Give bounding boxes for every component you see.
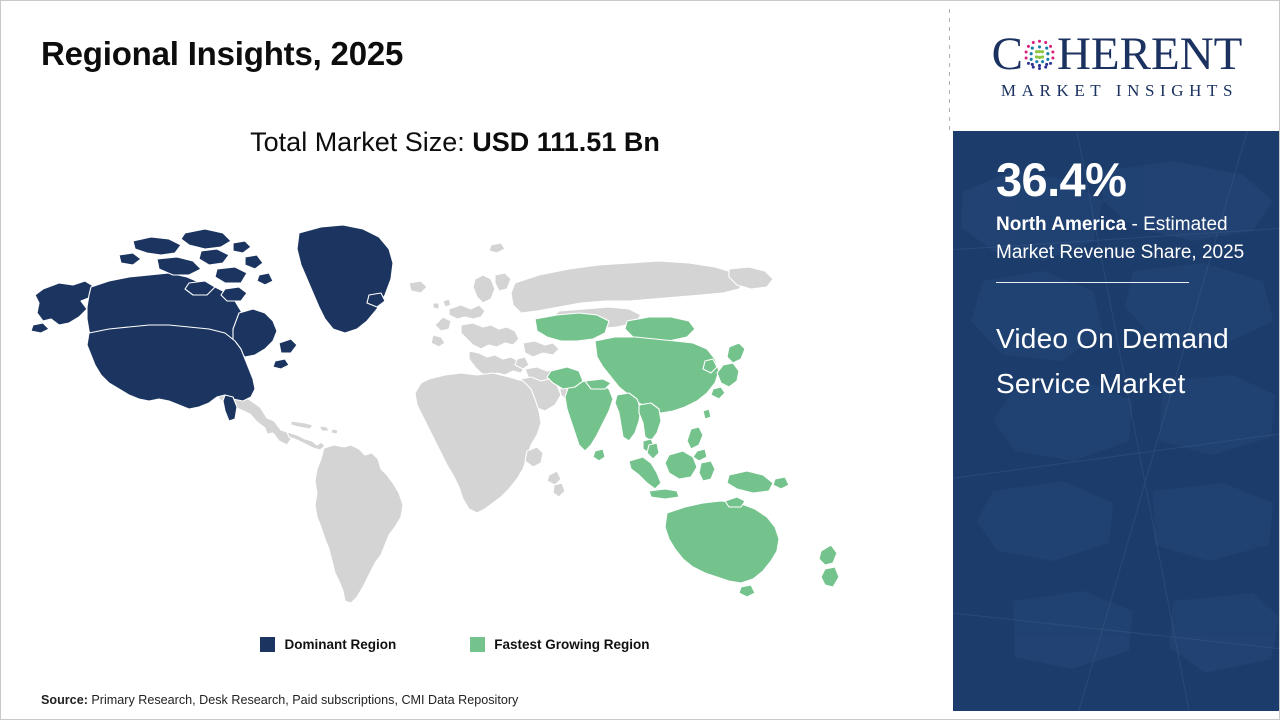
- map-legend: Dominant Region Fastest Growing Region: [1, 637, 909, 652]
- legend-item-fastest-growing: Fastest Growing Region: [470, 637, 649, 652]
- total-market-size: Total Market Size: USD 111.51 Bn: [1, 127, 909, 158]
- logo-wordmark-rest: HERENT: [1057, 31, 1242, 78]
- stat-value: 36.4%: [996, 155, 1268, 204]
- stat-panel-content: 36.4% North America - Estimated Market R…: [996, 155, 1268, 407]
- total-market-size-value: USD 111.51 Bn: [472, 127, 660, 157]
- globe-icon: [1023, 38, 1056, 71]
- legend-label-dominant: Dominant Region: [284, 637, 396, 652]
- legend-label-fastest-growing: Fastest Growing Region: [494, 637, 649, 652]
- map-region-north-america: [31, 225, 393, 421]
- brand-logo: C: [953, 1, 1280, 131]
- logo-subtitle: MARKET INSIGHTS: [996, 81, 1238, 101]
- map-region-asia-pacific: [535, 313, 839, 597]
- world-map-svg: [29, 183, 909, 623]
- market-name: Video On Demand Service Market: [996, 316, 1268, 407]
- left-content-panel: Regional Insights, 2025 Total Market Siz…: [1, 1, 949, 720]
- logo-letter-c: C: [992, 31, 1023, 78]
- source-text: Primary Research, Desk Research, Paid su…: [88, 693, 518, 707]
- map-region-svalbard: [489, 243, 505, 253]
- map-region-rest-of-world: [217, 391, 403, 603]
- infographic-page: Regional Insights, 2025 Total Market Siz…: [0, 0, 1280, 720]
- legend-swatch-dominant: [260, 637, 275, 652]
- world-map: [29, 183, 909, 623]
- legend-swatch-fastest-growing: [470, 637, 485, 652]
- stat-region-name: North America: [996, 214, 1126, 235]
- source-note: Source: Primary Research, Desk Research,…: [41, 693, 518, 707]
- stat-caption: North America - Estimated Market Revenue…: [996, 211, 1261, 266]
- legend-item-dominant: Dominant Region: [260, 637, 396, 652]
- panel-divider-rule: [996, 282, 1189, 283]
- vertical-dashed-divider: [949, 9, 950, 131]
- source-label: Source:: [41, 693, 88, 707]
- page-title: Regional Insights, 2025: [41, 35, 403, 73]
- total-market-size-label: Total Market Size:: [250, 127, 472, 157]
- logo-wordmark: C: [992, 32, 1243, 78]
- stat-panel: 36.4% North America - Estimated Market R…: [953, 131, 1280, 711]
- map-region-iceland: [409, 281, 427, 293]
